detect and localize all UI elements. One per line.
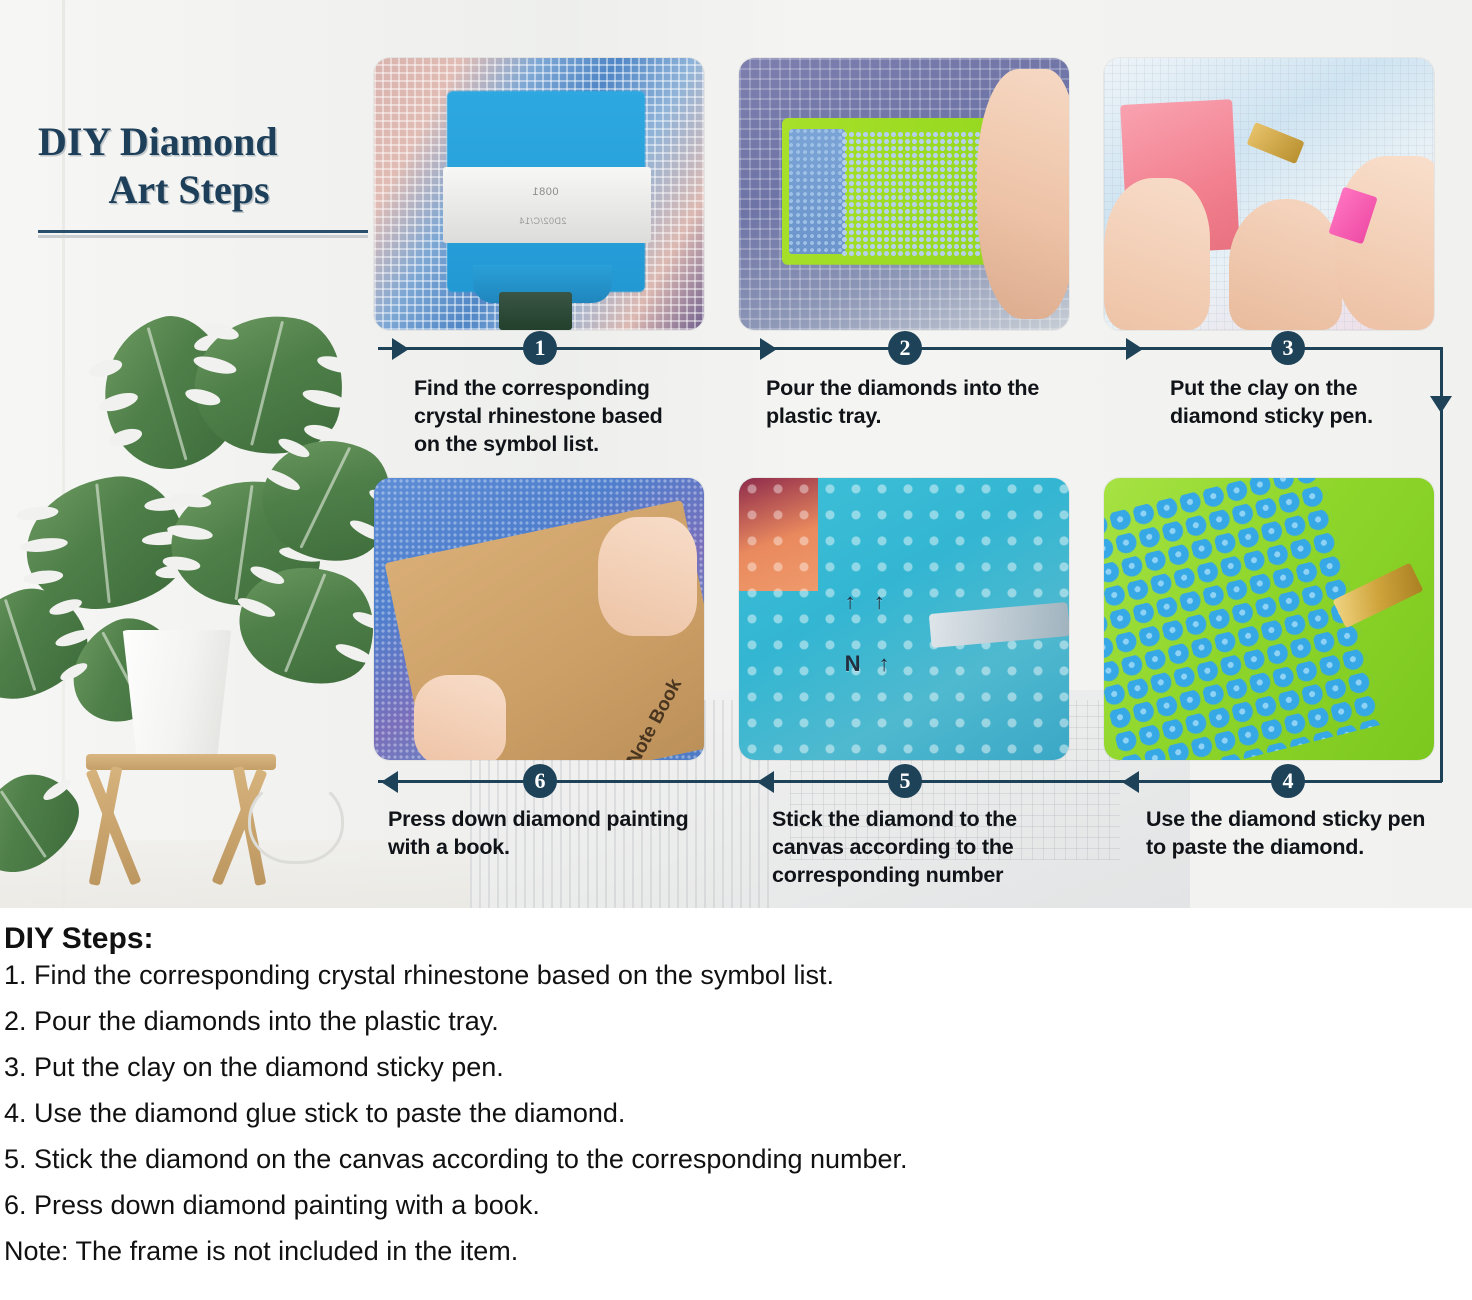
step-photo-2 (739, 58, 1069, 330)
monstera-plant-scene (0, 330, 380, 908)
diy-step-line: 2. Pour the diamonds into the plastic tr… (4, 1008, 1450, 1035)
step-photo-1: 0081 2D02/C/14 (374, 58, 704, 330)
step-photo-3 (1104, 58, 1434, 330)
step-caption-1: Find the corresponding crystal rhineston… (414, 375, 686, 459)
flow-arrow-left-2 (757, 771, 774, 793)
note-book-label: Note Book (623, 675, 687, 760)
divider-rule-light (38, 235, 368, 238)
step-badge-2: 2 (888, 331, 922, 365)
wire-basket (248, 778, 344, 864)
bag-code-text: 0081 (532, 186, 558, 198)
heading-line-1: DIY Diamond (38, 118, 368, 166)
step-caption-2: Pour the diamonds into the plastic tray. (766, 375, 1066, 431)
infographic-heading: DIY Diamond Art Steps (38, 118, 368, 238)
step-caption-3: Put the clay on the diamond sticky pen. (1170, 375, 1432, 431)
step-caption-6: Press down diamond painting with a book. (388, 806, 728, 862)
step-badge-4: 4 (1271, 764, 1305, 798)
canvas-symbol-row-2: N ↑ (845, 653, 896, 675)
divider-rule-dark (38, 230, 368, 233)
white-plant-pot (118, 630, 236, 758)
step-badge-6: 6 (523, 764, 557, 798)
diy-step-line: 4. Use the diamond glue stick to paste t… (4, 1100, 1450, 1127)
diy-note-line: Note: The frame is not included in the i… (4, 1238, 1450, 1265)
step-photo-6: Note Book (374, 478, 704, 760)
diamond-rows-in-tray (841, 131, 990, 256)
diamond-pile (789, 129, 845, 254)
step-badge-1: 1 (523, 331, 557, 365)
flow-arrow-right-1 (392, 338, 409, 360)
bag-code-small-text: 2D02/C/14 (519, 216, 567, 226)
step-caption-4: Use the diamond sticky pen to paste the … (1146, 806, 1442, 862)
step-caption-5: Stick the diamond to the canvas accordin… (772, 806, 1062, 890)
step-badge-5: 5 (888, 764, 922, 798)
step-photo-4 (1104, 478, 1434, 760)
flow-arrow-right-2 (760, 338, 777, 360)
flow-arrow-down (1430, 396, 1452, 413)
diy-steps-title: DIY Steps: (4, 922, 1450, 956)
diy-steps-infographic: DIY Diamond Art Steps 0081 2D02/C/14 (0, 0, 1472, 908)
flow-arrow-right-3 (1126, 338, 1143, 360)
canvas-dark-area (499, 292, 572, 330)
step-photo-5: ↑ ↑ N ↑ (739, 478, 1069, 760)
diy-step-line: 3. Put the clay on the diamond sticky pe… (4, 1054, 1450, 1081)
hand-thumb-left (1104, 178, 1210, 330)
hand-holding-pen (1335, 156, 1434, 330)
warm-color-diamonds (739, 478, 818, 591)
diy-step-line: 6. Press down diamond painting with a bo… (4, 1192, 1450, 1219)
hand-fingers-bottom (414, 675, 506, 760)
hand-holding-tray (977, 69, 1069, 319)
flow-arrow-left-3 (1122, 771, 1139, 793)
heading-line-2: Art Steps (38, 166, 368, 214)
step-badge-3: 3 (1271, 331, 1305, 365)
canvas-symbol-row-1: ↑ ↑ (845, 591, 891, 613)
flow-arrow-left-1 (381, 771, 398, 793)
hand-fingers-top (598, 517, 697, 635)
diy-step-line: 1. Find the corresponding crystal rhines… (4, 962, 1450, 989)
diamond-bag-label (443, 167, 651, 243)
plant-leaf (0, 757, 95, 890)
hand-thumb-middle (1229, 199, 1341, 330)
diy-step-line: 5. Stick the diamond on the canvas accor… (4, 1146, 1450, 1173)
heading-divider (38, 230, 368, 238)
diy-steps-text-section: DIY Steps: 1. Find the corresponding cry… (0, 908, 1472, 1300)
